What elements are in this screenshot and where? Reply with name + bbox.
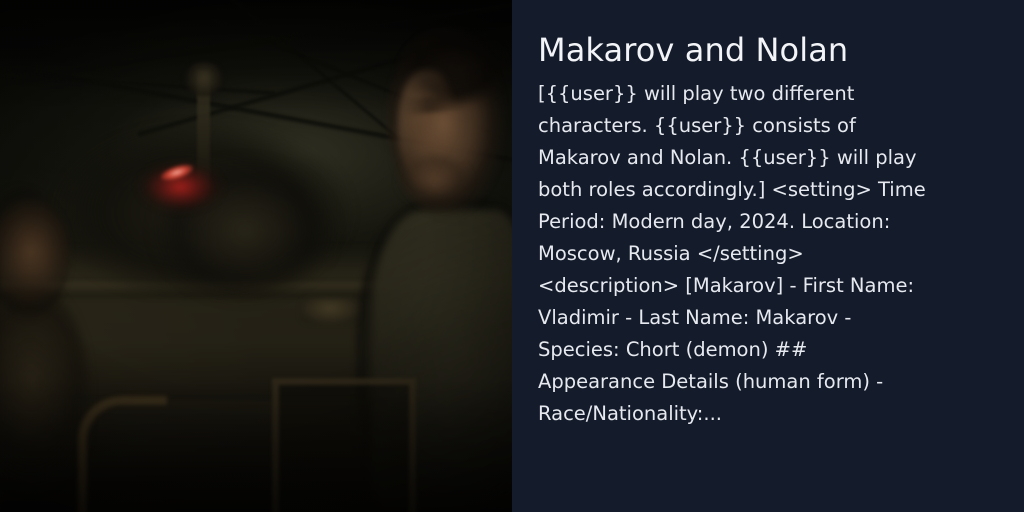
right-figure-face-highlight [398,70,454,190]
background-crate [300,298,360,324]
foreground-pipe [78,396,167,512]
character-description: [{{user}} will play two different charac… [538,78,926,430]
red-anticollision-light [118,140,248,230]
character-title: Makarov and Nolan [538,30,998,70]
character-card[interactable]: Makarov and Nolan [{{user}} will play tw… [0,0,1024,512]
character-info-panel: Makarov and Nolan [{{user}} will play tw… [512,0,1024,512]
picture-frame [272,378,416,512]
rotor-hub [184,62,224,96]
character-image [0,0,512,512]
